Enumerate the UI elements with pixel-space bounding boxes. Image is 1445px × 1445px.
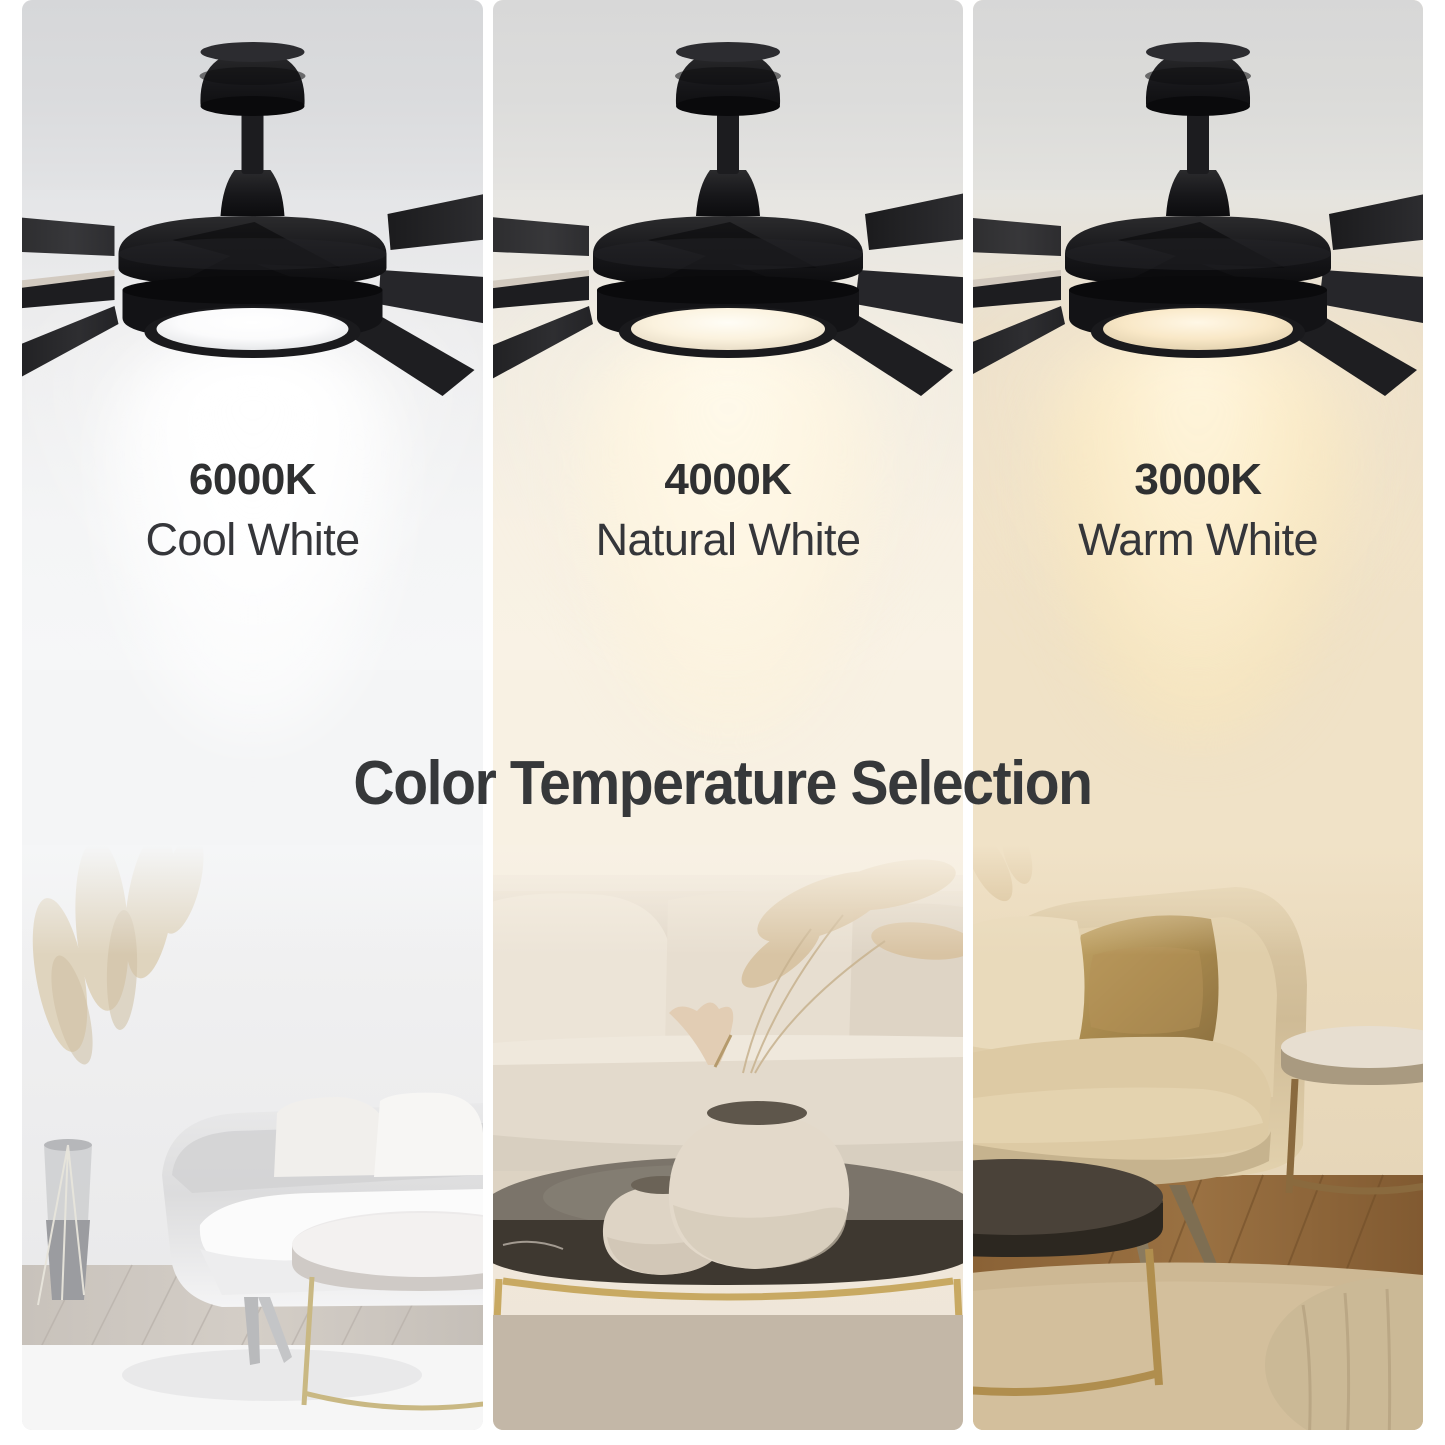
label-group-natural-white: 4000K Natural White — [493, 455, 963, 573]
label-group-warm-white: 3000K Warm White — [973, 455, 1423, 573]
ceiling-fan-icon — [22, 18, 483, 398]
ceiling-fan-icon — [973, 18, 1423, 398]
room-scene-warm-white — [973, 845, 1423, 1430]
panel-natural-white[interactable]: 4000K Natural White — [493, 0, 963, 1430]
color-temperature-name: Warm White — [973, 506, 1423, 574]
room-scene-natural-white — [493, 845, 963, 1430]
label-group-cool-white: 6000K Cool White — [22, 455, 483, 573]
color-temperature-name: Natural White — [493, 506, 963, 574]
color-temperature-name: Cool White — [22, 506, 483, 574]
kelvin-value: 4000K — [493, 455, 963, 506]
panel-row: 6000K Cool White — [22, 0, 1423, 1430]
kelvin-value: 6000K — [22, 455, 483, 506]
room-scene-cool-white — [22, 845, 483, 1430]
panel-cool-white[interactable]: 6000K Cool White — [22, 0, 483, 1430]
ceiling-fan-icon — [493, 18, 963, 398]
color-temperature-infographic: 6000K Cool White — [0, 0, 1445, 1445]
panel-warm-white[interactable]: 3000K Warm White — [973, 0, 1423, 1430]
kelvin-value: 3000K — [973, 455, 1423, 506]
page-title: Color Temperature Selection — [58, 748, 1387, 819]
